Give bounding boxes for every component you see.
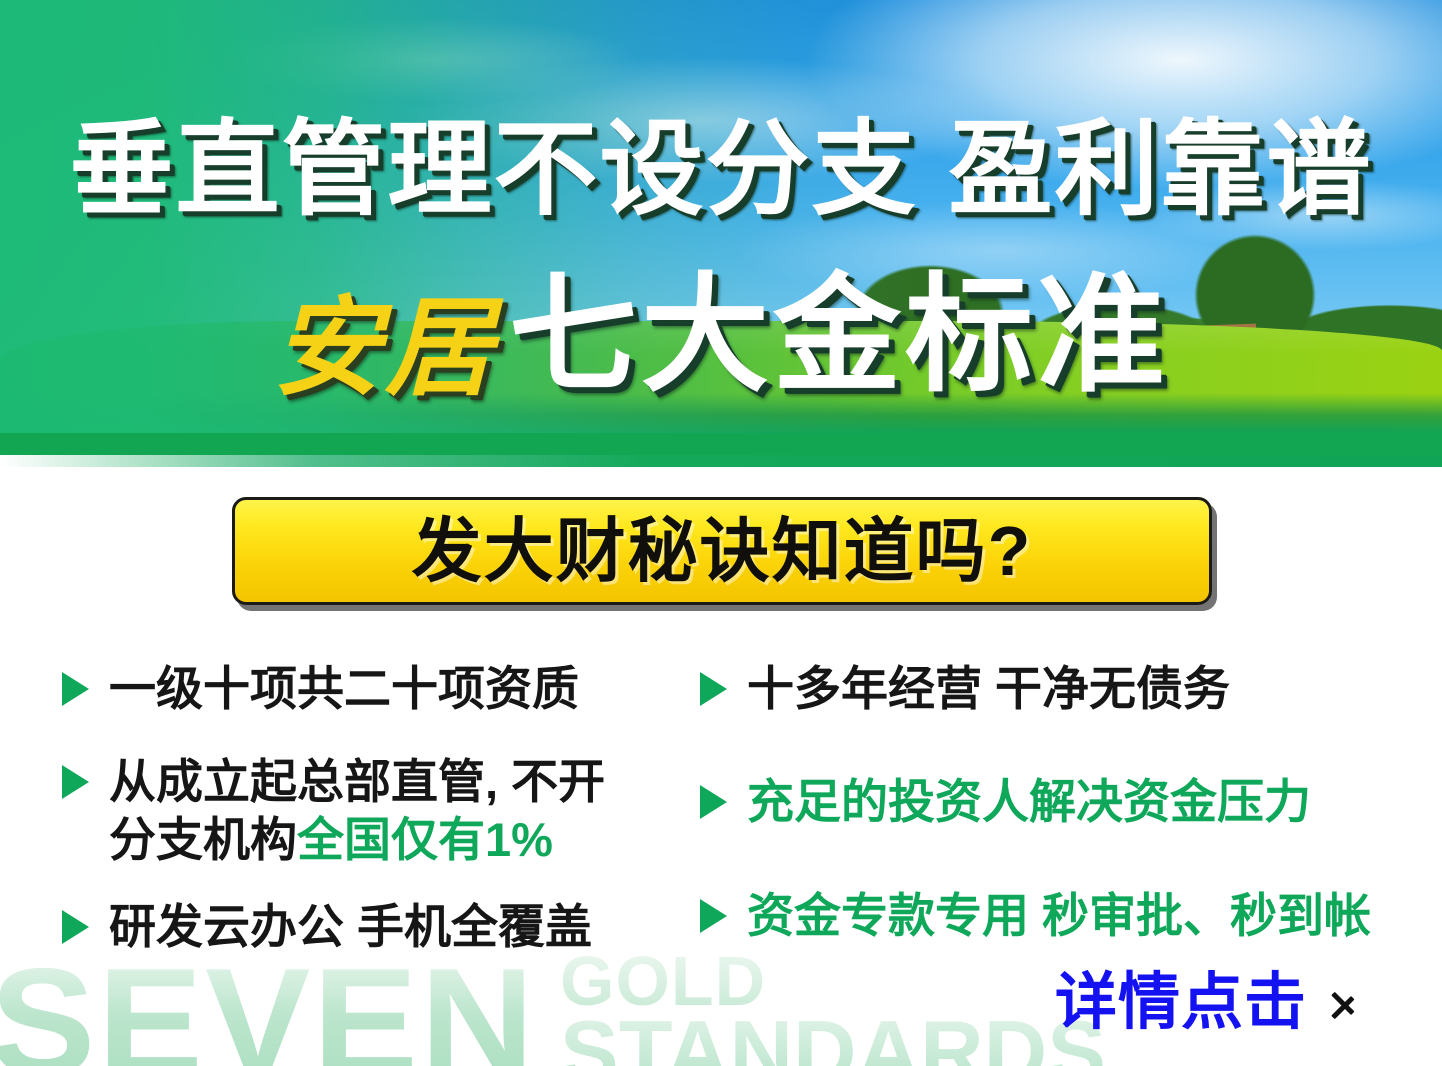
feature-line: 一级十项共二十项资质: [109, 660, 579, 717]
feature-line: 从成立起总部直管, 不开: [109, 753, 605, 810]
cta-banner[interactable]: 发大财秘诀知道吗?: [232, 497, 1212, 605]
feature-text: 研发云办公 手机全覆盖: [109, 898, 592, 955]
feature-item: 研发云办公 手机全覆盖: [62, 898, 702, 955]
feature-column-left: 一级十项共二十项资质 从成立起总部直管, 不开 分支机构全国仅有1% 研发云办公…: [62, 660, 702, 989]
feature-segment: 分支机构: [109, 813, 297, 866]
feature-line: 研发云办公 手机全覆盖: [109, 898, 592, 955]
feature-column-right: 十多年经营 干净无债务 充足的投资人解决资金压力 资金专款专用 秒审批、秒到帐: [700, 660, 1400, 1000]
triangle-bullet-icon: [700, 672, 727, 706]
hero-headline-line2: 安居七大金标准: [0, 272, 1442, 402]
hero-headline-main-text: 七大金标准: [509, 264, 1169, 407]
feature-line: 充足的投资人解决资金压力: [747, 773, 1311, 830]
details-link[interactable]: 详情点击: [1055, 972, 1359, 1034]
watermark-standards-text: STANDARDS: [560, 1009, 1106, 1066]
triangle-bullet-icon: [700, 899, 727, 933]
details-link-label: 详情点击: [1055, 972, 1307, 1034]
feature-item: 资金专款专用 秒审批、秒到帐: [700, 887, 1400, 944]
feature-line: 十多年经营 干净无债务: [747, 660, 1230, 717]
triangle-bullet-icon: [62, 910, 89, 944]
chevron-right-icon: [1329, 980, 1359, 1026]
feature-text: 资金专款专用 秒审批、秒到帐: [747, 887, 1371, 944]
feature-item: 一级十项共二十项资质: [62, 660, 702, 717]
feature-text: 从成立起总部直管, 不开 分支机构全国仅有1%: [109, 753, 605, 868]
hero-banner: 垂直管理不设分支 盈利靠谱 安居七大金标准: [0, 0, 1442, 455]
cta-banner-label: 发大财秘诀知道吗?: [412, 516, 1033, 586]
feature-text: 十多年经营 干净无债务: [747, 660, 1230, 717]
feature-line: 资金专款专用 秒审批、秒到帐: [747, 887, 1371, 944]
feature-item: 充足的投资人解决资金压力: [700, 773, 1400, 830]
triangle-bullet-icon: [700, 785, 727, 819]
poster-root: 垂直管理不设分支 盈利靠谱 安居七大金标准 发大财秘诀知道吗? 一级十项共二十项…: [0, 0, 1442, 1066]
feature-segment-highlight: 全国仅有1%: [297, 813, 553, 866]
hero-brand-text: 安居: [273, 287, 497, 408]
feature-item: 十多年经营 干净无债务: [700, 660, 1400, 717]
feature-line: 分支机构全国仅有1%: [109, 811, 605, 868]
triangle-bullet-icon: [62, 765, 89, 799]
hero-underline-divider: [0, 455, 1442, 467]
hero-bottom-green-band: [0, 433, 1442, 455]
triangle-bullet-icon: [62, 672, 89, 706]
feature-item: 从成立起总部直管, 不开 分支机构全国仅有1%: [62, 753, 702, 868]
feature-text: 一级十项共二十项资质: [109, 660, 579, 717]
feature-text: 充足的投资人解决资金压力: [747, 773, 1311, 830]
hero-headline-line1: 垂直管理不设分支 盈利靠谱: [0, 118, 1442, 222]
feature-list: 一级十项共二十项资质 从成立起总部直管, 不开 分支机构全国仅有1% 研发云办公…: [0, 660, 1442, 990]
